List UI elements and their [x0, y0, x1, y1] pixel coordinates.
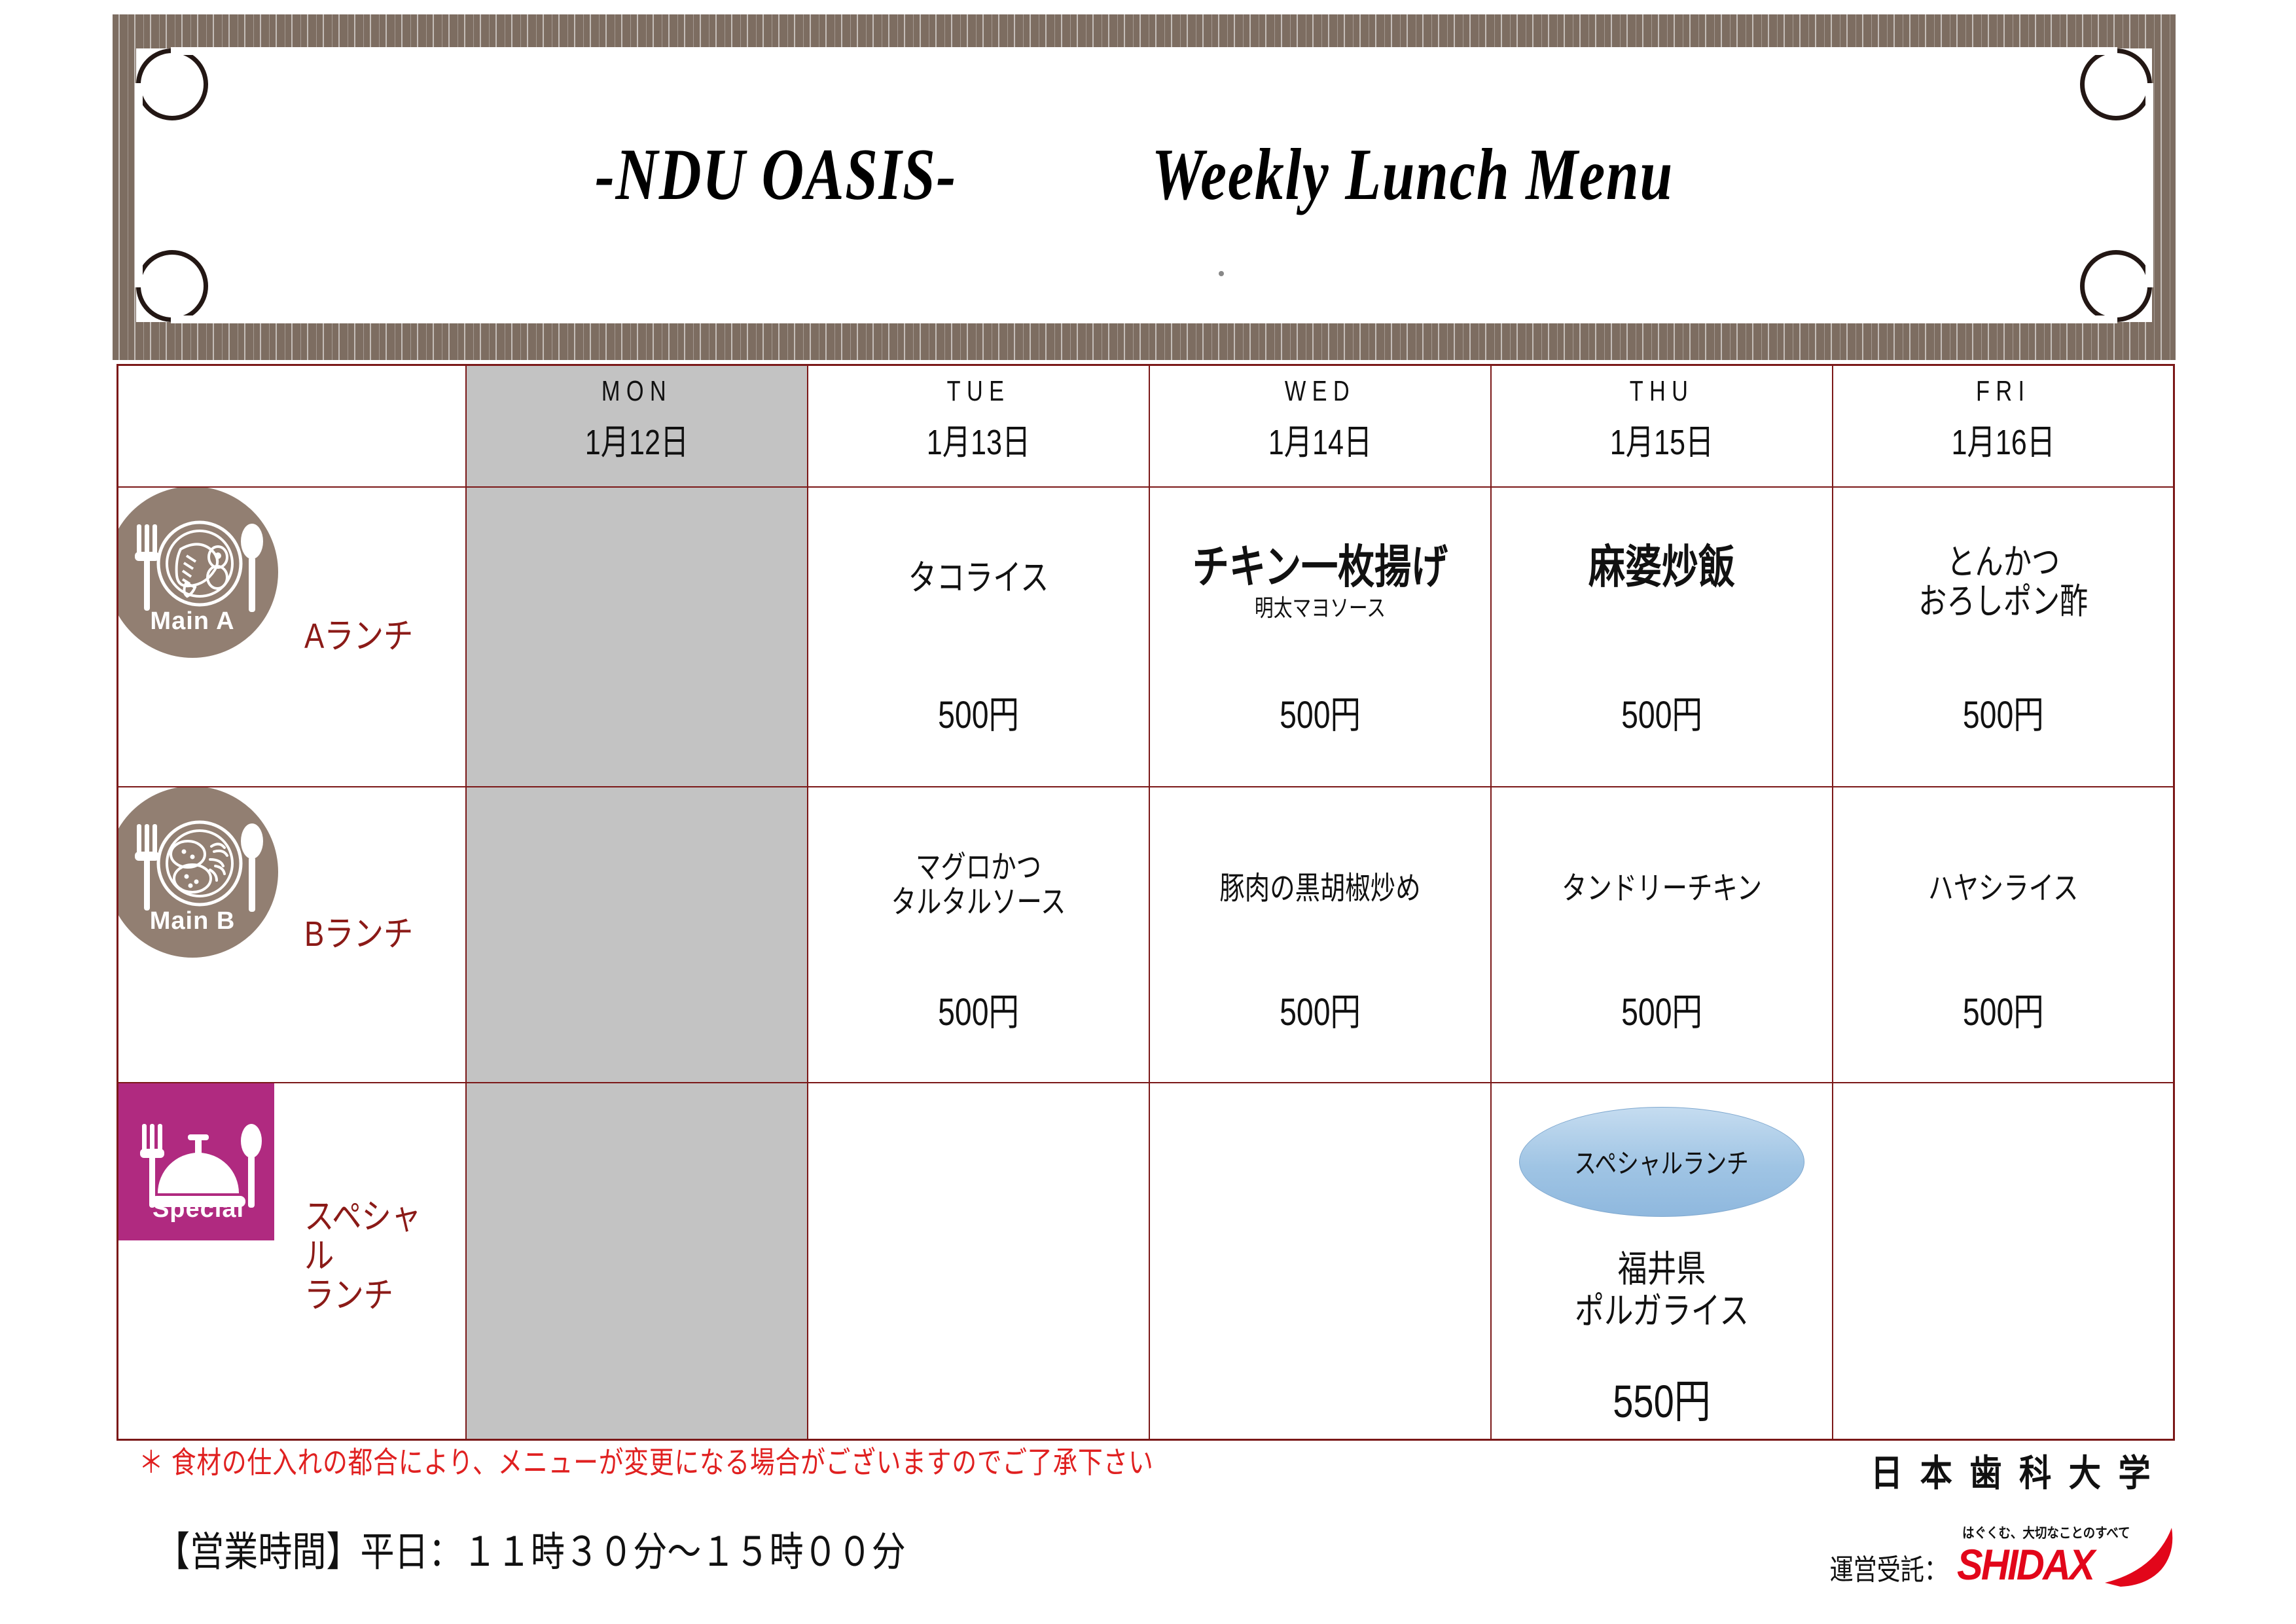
special-lunch-badge: スペシャルランチ	[1519, 1107, 1804, 1217]
day-abbr-mon: MON	[504, 375, 770, 408]
menu-cell-a-mon	[466, 487, 808, 787]
dish-price: 500円	[1526, 684, 1798, 739]
dish-main: チキン一枚揚げ	[1192, 541, 1447, 592]
rowlabel-cell-a: Main A Aランチ	[118, 487, 466, 787]
main-b-badge: Main B	[118, 787, 279, 958]
shidax-swoosh-icon	[2098, 1526, 2177, 1589]
dish-line-2: ポルガライス	[1574, 1290, 1748, 1331]
dish-name: ハヤシライス	[1867, 871, 2139, 907]
menu-cell-b-tue: マグロかつ タルタルソース 500円	[808, 787, 1149, 1083]
dish-name: とんかつ おろしポン酢	[1867, 543, 2139, 622]
rowlabel-cell-b: Main B Bランチ	[118, 787, 466, 1083]
frame-corner-bottom-right	[2117, 287, 2152, 322]
dish-price: 500円	[1526, 981, 1798, 1036]
dish-name: 豚肉の黒胡椒炒め	[1184, 871, 1456, 907]
frame-edge-top	[171, 47, 2117, 55]
dish-price: 500円	[1184, 981, 1456, 1036]
dish-name: タコライス	[842, 558, 1115, 598]
special-badge-label: Special	[122, 1195, 274, 1223]
frame-corner-bottom-left	[136, 287, 171, 322]
dish-price: 500円	[842, 684, 1115, 739]
menu-change-disclaimer: ＊ 食材の仕入れの都合により、メニューが変更になる場合がございますのでご了承下さ…	[139, 1439, 1154, 1482]
dish-price: 500円	[842, 981, 1115, 1036]
rowlabel-cell-special: Special スペシャル ランチ	[118, 1083, 466, 1440]
dish-line-2: おろしポン酢	[1918, 582, 2088, 621]
rowlabel-special: スペシャル ランチ	[304, 1083, 437, 1440]
menu-cell-b-fri: ハヤシライス 500円	[1833, 787, 2174, 1083]
day-abbr-wed: WED	[1187, 375, 1453, 408]
header-corner-cell	[118, 365, 466, 487]
shidax-logo: はぐくむ、大切なことのすべて SHIDAX	[1957, 1523, 2173, 1595]
dish-line-1: 福井県	[1617, 1248, 1705, 1290]
day-abbr-fri: FRI	[1871, 375, 2136, 408]
day-date-thu: 1月15日	[1526, 413, 1798, 465]
frame-corner-top-left	[136, 48, 171, 84]
rowlabel-special-line-2: ランチ	[304, 1276, 393, 1315]
dish-name: 福井県 ポルガライス	[1526, 1248, 1798, 1333]
menu-cell-a-thu: 麻婆炒飯 500円	[1491, 487, 1833, 787]
page-title: -NDU OASIS- Weekly Lunch Menu	[141, 133, 2147, 217]
main-b-badge-label: Main B	[118, 907, 279, 935]
rowlabel-a: Aランチ	[304, 488, 437, 786]
main-a-badge-label: Main A	[118, 607, 279, 636]
dish-name: チキン一枚揚げ 明太マヨソース	[1184, 541, 1456, 622]
header-cell-tue: TUE 1月13日	[808, 365, 1149, 487]
menu-cell-special-fri	[1833, 1083, 2174, 1440]
frame-edge-bottom	[171, 316, 2117, 323]
day-date-wed: 1月14日	[1184, 413, 1456, 465]
header-cell-thu: THU 1月15日	[1491, 365, 1833, 487]
operator-block: 運営受託： はぐくむ、大切なことのすべて SHIDAX	[1804, 1523, 2173, 1595]
day-date-fri: 1月16日	[1867, 413, 2139, 465]
menu-cell-special-tue	[808, 1083, 1149, 1440]
university-name: 日本歯科大学	[1871, 1444, 2168, 1497]
operator-label: 運営受託：	[1830, 1546, 1948, 1595]
menu-cell-b-wed: 豚肉の黒胡椒炒め 500円	[1149, 787, 1491, 1083]
header-cell-fri: FRI 1月16日	[1833, 365, 2174, 487]
menu-cell-special-thu: スペシャルランチ 福井県 ポルガライス 550円	[1491, 1083, 1833, 1440]
table-row-special: Special スペシャル ランチ スペシャルランチ 福井県 ポルガライス	[118, 1083, 2174, 1440]
frame-corner-top-right	[2117, 48, 2152, 84]
menu-cell-b-thu: タンドリーチキン 500円	[1491, 787, 1833, 1083]
day-abbr-thu: THU	[1529, 375, 1795, 408]
special-lunch-badge-label: スペシャルランチ	[1574, 1142, 1748, 1182]
decorative-dot	[1219, 271, 1224, 276]
dish-name: マグロかつ タルタルソース	[842, 850, 1115, 921]
header-cell-wed: WED 1月14日	[1149, 365, 1491, 487]
day-date-tue: 1月13日	[842, 413, 1115, 465]
table-row-lunch-b: Main B Bランチ マグロかつ タルタルソース 500円 豚肉の黒胡椒炒め …	[118, 787, 2174, 1083]
rowlabel-special-line-1: スペシャル	[304, 1197, 421, 1276]
dish-name: 麻婆炒飯	[1526, 541, 1798, 592]
header-cell-mon: MON 1月12日	[466, 365, 808, 487]
menu-cell-b-mon	[466, 787, 808, 1083]
day-abbr-tue: TUE	[846, 375, 1111, 408]
rowlabel-b: Bランチ	[304, 787, 437, 1082]
title-restaurant-name: -NDU OASIS-	[595, 133, 957, 217]
main-a-badge: Main A	[118, 487, 279, 658]
menu-cell-a-fri: とんかつ おろしポン酢 500円	[1833, 487, 2174, 787]
menu-cell-special-wed	[1149, 1083, 1491, 1440]
dish-line-1: マグロかつ	[915, 850, 1041, 885]
dish-price: 500円	[1184, 684, 1456, 739]
dish-sub: 明太マヨソース	[1184, 595, 1456, 621]
weekly-menu-table: MON 1月12日 TUE 1月13日 WED 1月14日 THU 1月15日	[117, 364, 2175, 1441]
menu-cell-a-wed: チキン一枚揚げ 明太マヨソース 500円	[1149, 487, 1491, 787]
business-hours: 【営業時間】平日：１１時３０分〜１５時００分	[156, 1519, 906, 1578]
table-row-lunch-a: Main A Aランチ タコライス 500円 チキン一枚揚げ 明太マヨソース 5…	[118, 487, 2174, 787]
title-menu-label: Weekly Lunch Menu	[1151, 133, 1673, 217]
shidax-wordmark: SHIDAX	[1957, 1540, 2093, 1589]
special-badge: Special	[118, 1083, 275, 1240]
title-banner: -NDU OASIS- Weekly Lunch Menu	[113, 14, 2176, 360]
dish-line-1: とんかつ	[1946, 543, 2060, 582]
title-frame: -NDU OASIS- Weekly Lunch Menu	[136, 48, 2152, 322]
dish-name: タンドリーチキン	[1526, 871, 1798, 907]
table-header-row: MON 1月12日 TUE 1月13日 WED 1月14日 THU 1月15日	[118, 365, 2174, 487]
dish-price: 500円	[1867, 981, 2139, 1036]
dish-price: 550円	[1526, 1365, 1798, 1431]
dish-line-2: タルタルソース	[891, 885, 1066, 920]
menu-cell-a-tue: タコライス 500円	[808, 487, 1149, 787]
menu-cell-special-mon	[466, 1083, 808, 1440]
dish-price: 500円	[1867, 684, 2139, 739]
day-date-mon: 1月12日	[501, 413, 773, 465]
